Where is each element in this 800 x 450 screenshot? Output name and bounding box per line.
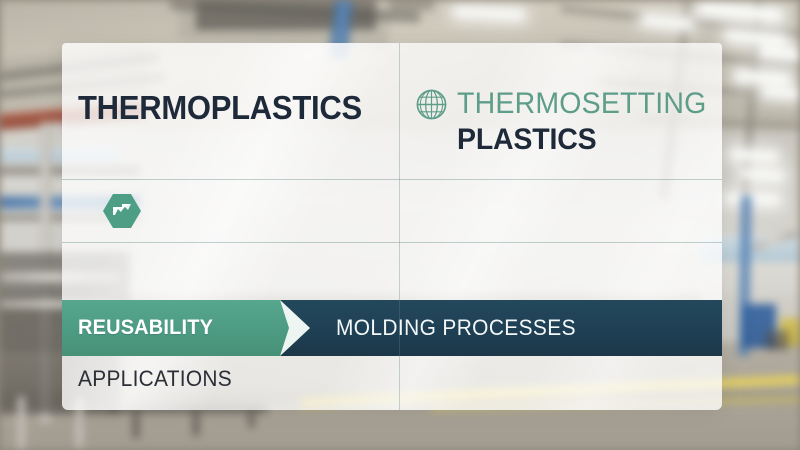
divider-horizontal-top (62, 179, 722, 180)
globe-icon (415, 88, 448, 121)
title-line-thermosetting: THERMOSETTING (457, 87, 706, 121)
table-leg (192, 408, 200, 436)
floor-post (18, 396, 25, 450)
ceiling-beam (390, 0, 434, 10)
label-applications: APPLICATIONS (78, 366, 232, 392)
banner-label-molding-processes: MOLDING PROCESSES (336, 315, 576, 341)
hexagon-recycle-icon (102, 193, 142, 229)
page-title-thermoplastics: THERMOPLASTICS (78, 89, 362, 127)
banner-label-reusability: REUSABILITY (78, 316, 213, 340)
banner-row: REUSABILITY MOLDING PROCESSES (62, 300, 722, 356)
title-line-plastics: PLASTICS (457, 123, 702, 157)
divider-horizontal-bottom (62, 242, 722, 243)
table-leg (132, 408, 140, 438)
page-title-thermosetting-plastics: THERMOSETTING PLASTICS (415, 87, 715, 157)
equipment-shadow (766, 330, 788, 350)
comparison-card: THERMOPLASTICS THERMOSETTING (62, 43, 722, 410)
